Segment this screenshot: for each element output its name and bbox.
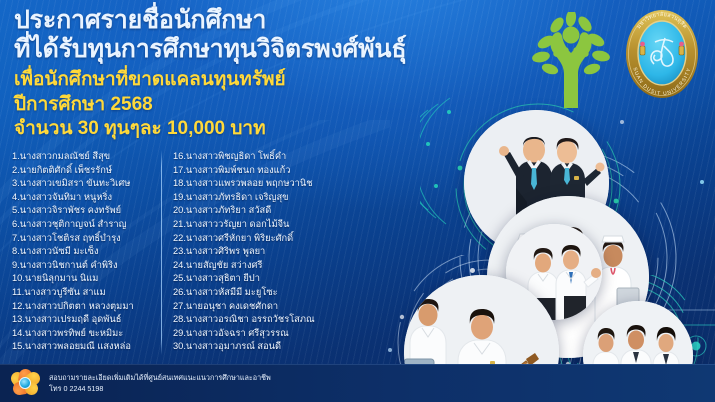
recipient-name: 10.นายนิลุกมาน นิแม xyxy=(12,272,157,286)
recipient-name: 30.นางสาวอุมาภรณ์ สอนดี xyxy=(173,340,318,354)
decor-dot-2 xyxy=(700,180,704,184)
recipient-name: 22.นางสาวศรีหักยา พิริยะศักดิ์ xyxy=(173,232,318,246)
recipient-name: 28.นางสาวอรณิชา อรรถวัชรโสภณ xyxy=(173,313,318,327)
recipient-name: 27.นายอนุชา คงเดชศักดา xyxy=(173,300,318,314)
recipient-column-right: 16.นางสาวพิชญธิดา โพธิ์คำ17.นางสาวพิมพ์ช… xyxy=(173,150,318,365)
recipient-name: 7.นางสาวโชติรส ฤทธิ์บำรุง xyxy=(12,232,157,246)
recipient-name: 16.นางสาวพิชญธิดา โพธิ์คำ xyxy=(173,150,318,164)
recipient-name: 20.นางสาวภัทริยา สวัสดี xyxy=(173,204,318,218)
decor-dot-3 xyxy=(620,120,624,124)
poster-heading-block: ประกาศรายชื่อนักศึกษา ที่ได้รับทุนการศึก… xyxy=(14,6,484,142)
recipient-name: 21.นางสาววรัญยา ดอกไม้จีน xyxy=(173,218,318,232)
headline-line-2: ที่ได้รับทุนการศึกษาทุนวิจิตรพงศ์พันธุ์ xyxy=(14,35,484,64)
footer-line-1: สอบถามรายละเอียดเพิ่มเติมได้ที่ศูนย์สนเท… xyxy=(49,373,271,384)
recipient-name: 8.นางสาวนัซมี มะเซ็ง xyxy=(12,245,157,259)
subtitle-line-3: จำนวน 30 ทุนๆละ 10,000 บาท xyxy=(14,117,484,142)
recipient-name: 25.นางสาวสุธิตา ยีปา xyxy=(173,272,318,286)
suan-dusit-flower-logo xyxy=(10,369,40,399)
recipient-name: 23.นางสาวศิริพร พูลยา xyxy=(173,245,318,259)
recipient-name: 26.นางสาวหัสมีมี มะยูโซะ xyxy=(173,286,318,300)
recipient-name: 29.นางสาวอัจฉรา ศรีสุวรรณ xyxy=(173,327,318,341)
contact-footer-bar: สอบถามรายละเอียดเพิ่มเติมได้ที่ศูนย์สนเท… xyxy=(0,364,715,402)
recipient-name: 6.นางสาวชุติกาญจน์ สำราญ xyxy=(12,218,157,232)
suan-dusit-university-seal: มหาวิทยาลัยสวนดุสิต SUAN DUSIT UNIVERSIT… xyxy=(621,6,703,98)
scholarship-recipient-list: 1.นางสาวกมลณัชย์ สีสุข2.นายกิตติศักดิ์ เ… xyxy=(12,150,342,365)
recipient-name: 1.นางสาวกมลณัชย์ สีสุข xyxy=(12,150,157,164)
footer-line-2: โทร 0 2244 5198 xyxy=(49,384,271,395)
flower-core xyxy=(19,377,31,389)
recipient-name: 9.นางสาวนิชกานต์ คำพิริง xyxy=(12,259,157,273)
recipient-name: 13.นางสาวเปรมฤดี อุดพันธ์ xyxy=(12,313,157,327)
recipient-name: 15.นางสาวพลอยมณี แสงหล่อ xyxy=(12,340,157,354)
recipient-name: 3.นางสาวเขมิสรา ขันทะวิเศษ xyxy=(12,177,157,191)
recipient-column-left: 1.นางสาวกมลณัชย์ สีสุข2.นายกิตติศักดิ์ เ… xyxy=(12,150,157,365)
recipient-name: 18.นางสาวแพรวพลอย พฤกษวานิช xyxy=(173,177,318,191)
recipient-name: 24.นายสัญชัย สว่างศรี xyxy=(173,259,318,273)
poster-subtitle-block: เพื่อนักศึกษาที่ขาดแคลนทุนทรัพย์ ปีการศึ… xyxy=(14,68,484,142)
column-divider xyxy=(161,150,162,355)
recipient-name: 17.นางสาวพิมพ์ชนก ทองแก้ว xyxy=(173,164,318,178)
recipient-name: 14.นางสาวพรทิพย์ ขะหมิมะ xyxy=(12,327,157,341)
headline-line-1: ประกาศรายชื่อนักศึกษา xyxy=(14,6,484,35)
decor-dot-1 xyxy=(470,268,475,273)
decor-dot-4 xyxy=(388,348,392,352)
recipient-name: 11.นางสาวบูรีซัน สาแม xyxy=(12,286,157,300)
recipient-name: 2.นายกิตติศักดิ์ เพ็ชรรักษ์ xyxy=(12,164,157,178)
subtitle-line-2: ปีการศึกษา 2568 xyxy=(14,93,484,118)
subtitle-line-1: เพื่อนักศึกษาที่ขาดแคลนทุนทรัพย์ xyxy=(14,68,484,93)
footer-contact-text: สอบถามรายละเอียดเพิ่มเติมได้ที่ศูนย์สนเท… xyxy=(49,373,271,394)
recipient-name: 12.นางสาวปกิตตา หลวงตุมมา xyxy=(12,300,157,314)
recipient-name: 5.นางสาวจิราพัชร คงทรัพย์ xyxy=(12,204,157,218)
recipient-name: 4.นางสาวจันทิมา หนูหริ่ง xyxy=(12,191,157,205)
recipient-name: 19.นางสาวภัทรธิดา เจริญสุข xyxy=(173,191,318,205)
scholarship-announcement-poster: ประกาศรายชื่อนักศึกษา ที่ได้รับทุนการศึก… xyxy=(0,0,715,402)
tree-people-icon xyxy=(528,12,614,108)
